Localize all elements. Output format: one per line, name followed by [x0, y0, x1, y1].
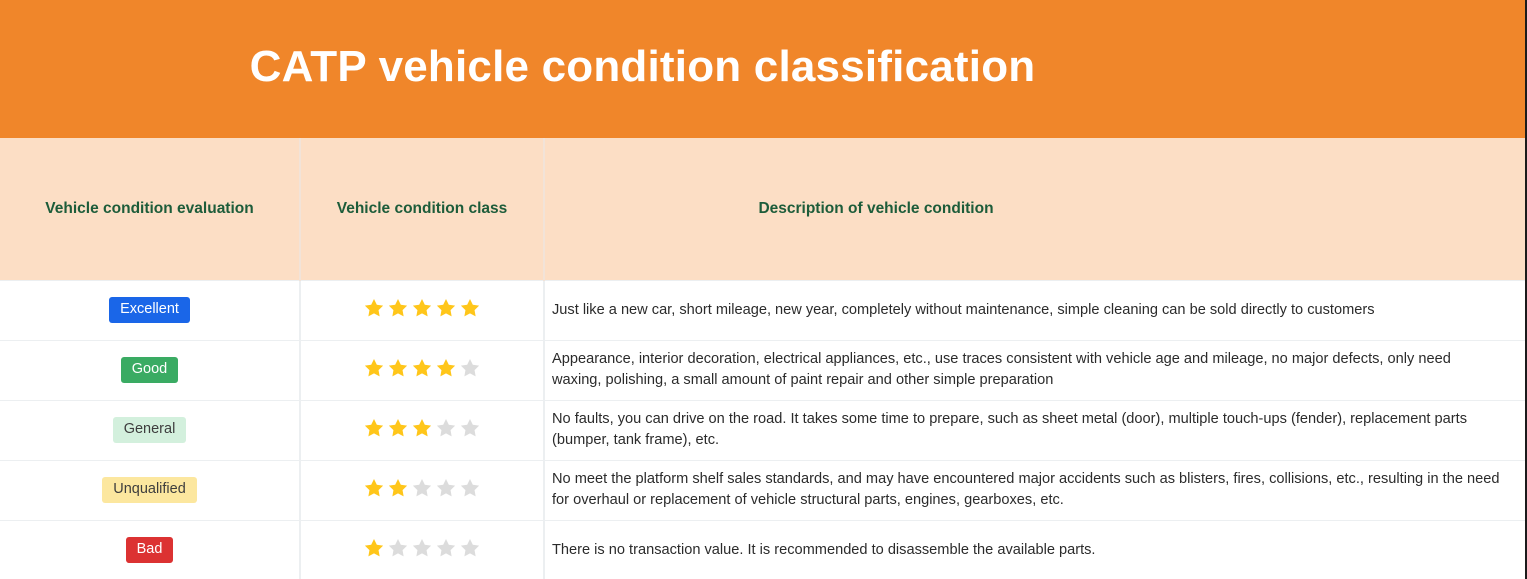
- star-filled-icon: [363, 537, 385, 559]
- status-badge: Bad: [126, 537, 174, 562]
- vehicle-condition-classification-page: CATP vehicle condition classification Ve…: [0, 0, 1527, 579]
- star-filled-icon: [411, 417, 433, 439]
- star-empty-icon: [387, 537, 409, 559]
- cell-description: Appearance, interior decoration, electri…: [544, 340, 1527, 400]
- status-badge: Excellent: [109, 297, 190, 322]
- status-badge: Good: [121, 357, 178, 382]
- cell-class-rating: [300, 520, 544, 579]
- star-empty-icon: [435, 417, 457, 439]
- table-row: UnqualifiedNo meet the platform shelf sa…: [0, 460, 1527, 520]
- star-filled-icon: [435, 297, 457, 319]
- cell-evaluation: Excellent: [0, 280, 300, 340]
- column-header-evaluation: Vehicle condition evaluation: [0, 138, 300, 280]
- star-rating: [363, 297, 481, 319]
- cell-description: No faults, you can drive on the road. It…: [544, 400, 1527, 460]
- cell-evaluation: Good: [0, 340, 300, 400]
- cell-class-rating: [300, 340, 544, 400]
- cell-description: No meet the platform shelf sales standar…: [544, 460, 1527, 520]
- table-header-row: Vehicle condition evaluation Vehicle con…: [0, 138, 1527, 280]
- column-header-description: Description of vehicle condition: [544, 138, 1527, 280]
- cell-description: There is no transaction value. It is rec…: [544, 520, 1527, 579]
- star-empty-icon: [411, 537, 433, 559]
- star-filled-icon: [459, 297, 481, 319]
- cell-description: Just like a new car, short mileage, new …: [544, 280, 1527, 340]
- vehicle-condition-table: Vehicle condition evaluation Vehicle con…: [0, 138, 1527, 579]
- star-filled-icon: [387, 297, 409, 319]
- star-filled-icon: [363, 297, 385, 319]
- star-filled-icon: [363, 357, 385, 379]
- star-empty-icon: [459, 537, 481, 559]
- cell-class-rating: [300, 400, 544, 460]
- table-row: ExcellentJust like a new car, short mile…: [0, 280, 1527, 340]
- star-filled-icon: [387, 357, 409, 379]
- title-banner: CATP vehicle condition classification: [0, 0, 1525, 138]
- star-filled-icon: [411, 357, 433, 379]
- cell-evaluation: Unqualified: [0, 460, 300, 520]
- star-empty-icon: [411, 477, 433, 499]
- table-row: GeneralNo faults, you can drive on the r…: [0, 400, 1527, 460]
- star-empty-icon: [435, 477, 457, 499]
- star-filled-icon: [435, 357, 457, 379]
- star-filled-icon: [387, 417, 409, 439]
- star-rating: [363, 357, 481, 379]
- star-filled-icon: [411, 297, 433, 319]
- star-empty-icon: [459, 357, 481, 379]
- cell-class-rating: [300, 280, 544, 340]
- column-header-class: Vehicle condition class: [300, 138, 544, 280]
- star-empty-icon: [435, 537, 457, 559]
- cell-evaluation: Bad: [0, 520, 300, 579]
- star-empty-icon: [459, 477, 481, 499]
- star-rating: [363, 537, 481, 559]
- star-filled-icon: [387, 477, 409, 499]
- status-badge: General: [113, 417, 187, 442]
- star-filled-icon: [363, 477, 385, 499]
- status-badge: Unqualified: [102, 477, 197, 502]
- star-empty-icon: [459, 417, 481, 439]
- star-rating: [363, 477, 481, 499]
- table-row: BadThere is no transaction value. It is …: [0, 520, 1527, 579]
- star-filled-icon: [363, 417, 385, 439]
- cell-class-rating: [300, 460, 544, 520]
- table-header: Vehicle condition evaluation Vehicle con…: [0, 138, 1527, 280]
- cell-evaluation: General: [0, 400, 300, 460]
- table-body: ExcellentJust like a new car, short mile…: [0, 280, 1527, 579]
- table-row: GoodAppearance, interior decoration, ele…: [0, 340, 1527, 400]
- star-rating: [363, 417, 481, 439]
- page-title: CATP vehicle condition classification: [250, 43, 1276, 95]
